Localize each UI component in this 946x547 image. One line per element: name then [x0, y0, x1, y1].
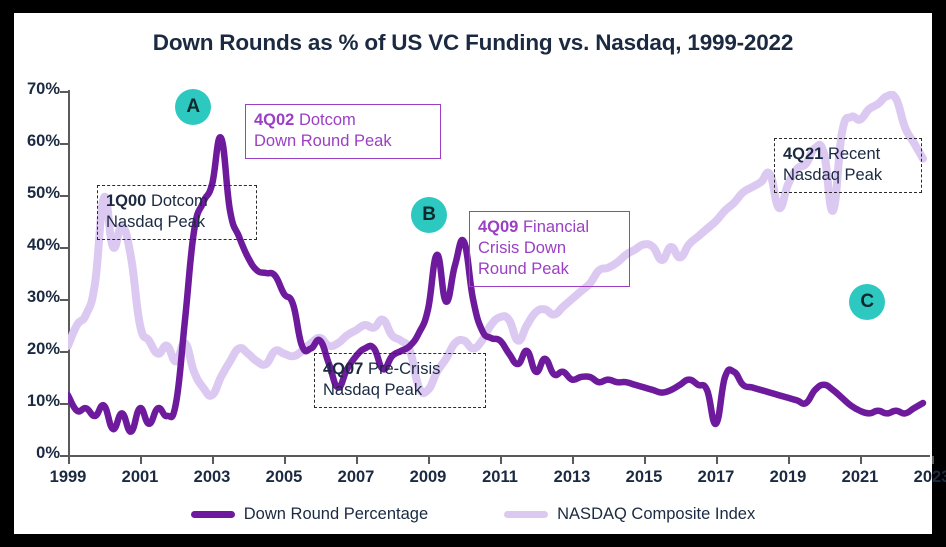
page-title: Down Rounds as % of US VC Funding vs. Na… [14, 30, 932, 56]
marker-b: B [411, 197, 447, 233]
x-tick-label: 2023 [902, 468, 946, 487]
y-tick-mark [60, 351, 68, 353]
annotation-text: Financial [518, 218, 589, 236]
x-tick-label: 2021 [830, 468, 890, 487]
x-tick-mark [212, 456, 214, 464]
annotation-line: Round Peak [478, 259, 621, 280]
annotation-line: Nasdaq Peak [323, 380, 477, 401]
y-tick-label: 50% [16, 184, 60, 203]
y-tick-label: 20% [16, 340, 60, 359]
x-tick-mark [356, 456, 358, 464]
x-tick-mark [500, 456, 502, 464]
legend: Down Round PercentageNASDAQ Composite In… [14, 505, 932, 524]
y-tick-label: 0% [16, 444, 60, 463]
x-tick-mark [68, 456, 70, 464]
y-tick-label: 40% [16, 236, 60, 255]
annotation-text: Dotcom [146, 192, 207, 210]
annotation-quarter: 4Q07 [323, 360, 363, 378]
annotation-line: Down Round Peak [254, 131, 432, 152]
x-tick-label: 2005 [254, 468, 314, 487]
annotation-line: Nasdaq Peak [106, 212, 248, 233]
annotation-text: Pre-Crisis [363, 360, 440, 378]
annotation-text: Recent [823, 145, 880, 163]
y-tick-mark [60, 299, 68, 301]
y-tick-mark [60, 403, 68, 405]
x-tick-mark [572, 456, 574, 464]
annotation-line: 1Q00 Dotcom [106, 191, 248, 212]
x-tick-label: 2001 [110, 468, 170, 487]
y-tick-mark [60, 195, 68, 197]
x-tick-mark [860, 456, 862, 464]
annotation-line: 4Q07 Pre-Crisis [323, 359, 477, 380]
annotation-line: Nasdaq Peak [783, 165, 913, 186]
annotation-line: Crisis Down [478, 238, 621, 259]
anno-4q07: 4Q07 Pre-CrisisNasdaq Peak [314, 353, 486, 408]
x-tick-mark [140, 456, 142, 464]
annotation-line: 4Q02 Dotcom [254, 110, 432, 131]
y-axis-labels: 0%10%20%30%40%50%60%70% [14, 13, 60, 534]
y-tick-mark [60, 247, 68, 249]
x-tick-label: 1999 [38, 468, 98, 487]
x-tick-label: 2013 [542, 468, 602, 487]
x-tick-mark [716, 456, 718, 464]
chart-frame: Down Rounds as % of US VC Funding vs. Na… [14, 13, 932, 534]
x-tick-label: 2007 [326, 468, 386, 487]
x-tick-label: 2003 [182, 468, 242, 487]
y-tick-mark [60, 143, 68, 145]
x-tick-label: 2011 [470, 468, 530, 487]
x-tick-mark [644, 456, 646, 464]
annotation-quarter: 4Q09 [478, 218, 518, 236]
y-tick-mark [60, 91, 68, 93]
x-tick-mark [428, 456, 430, 464]
y-tick-label: 10% [16, 392, 60, 411]
x-tick-mark [284, 456, 286, 464]
legend-item-down-round[interactable]: Down Round Percentage [191, 505, 428, 524]
anno-4q21: 4Q21 RecentNasdaq Peak [774, 138, 922, 193]
y-tick-label: 60% [16, 132, 60, 151]
annotation-quarter: 4Q21 [783, 145, 823, 163]
x-tick-label: 2009 [398, 468, 458, 487]
anno-4q02: 4Q02 DotcomDown Round Peak [245, 104, 441, 159]
y-tick-label: 30% [16, 288, 60, 307]
annotation-quarter: 4Q02 [254, 111, 294, 129]
x-tick-label: 2015 [614, 468, 674, 487]
x-axis-line [68, 455, 930, 457]
y-tick-label: 70% [16, 80, 60, 99]
y-tick-mark [60, 455, 68, 457]
x-tick-mark [932, 456, 934, 464]
legend-swatch [504, 511, 548, 518]
legend-swatch [191, 511, 235, 518]
annotation-line: 4Q21 Recent [783, 144, 913, 165]
anno-4q09: 4Q09 FinancialCrisis DownRound Peak [469, 211, 630, 287]
x-tick-mark [788, 456, 790, 464]
legend-item-nasdaq[interactable]: NASDAQ Composite Index [504, 505, 755, 524]
annotation-text: Dotcom [294, 111, 355, 129]
anno-1q00: 1Q00 DotcomNasdaq Peak [97, 185, 257, 240]
x-tick-label: 2019 [758, 468, 818, 487]
annotation-quarter: 1Q00 [106, 192, 146, 210]
legend-label: Down Round Percentage [244, 505, 428, 524]
x-tick-label: 2017 [686, 468, 746, 487]
legend-label: NASDAQ Composite Index [557, 505, 755, 524]
annotation-line: 4Q09 Financial [478, 217, 621, 238]
